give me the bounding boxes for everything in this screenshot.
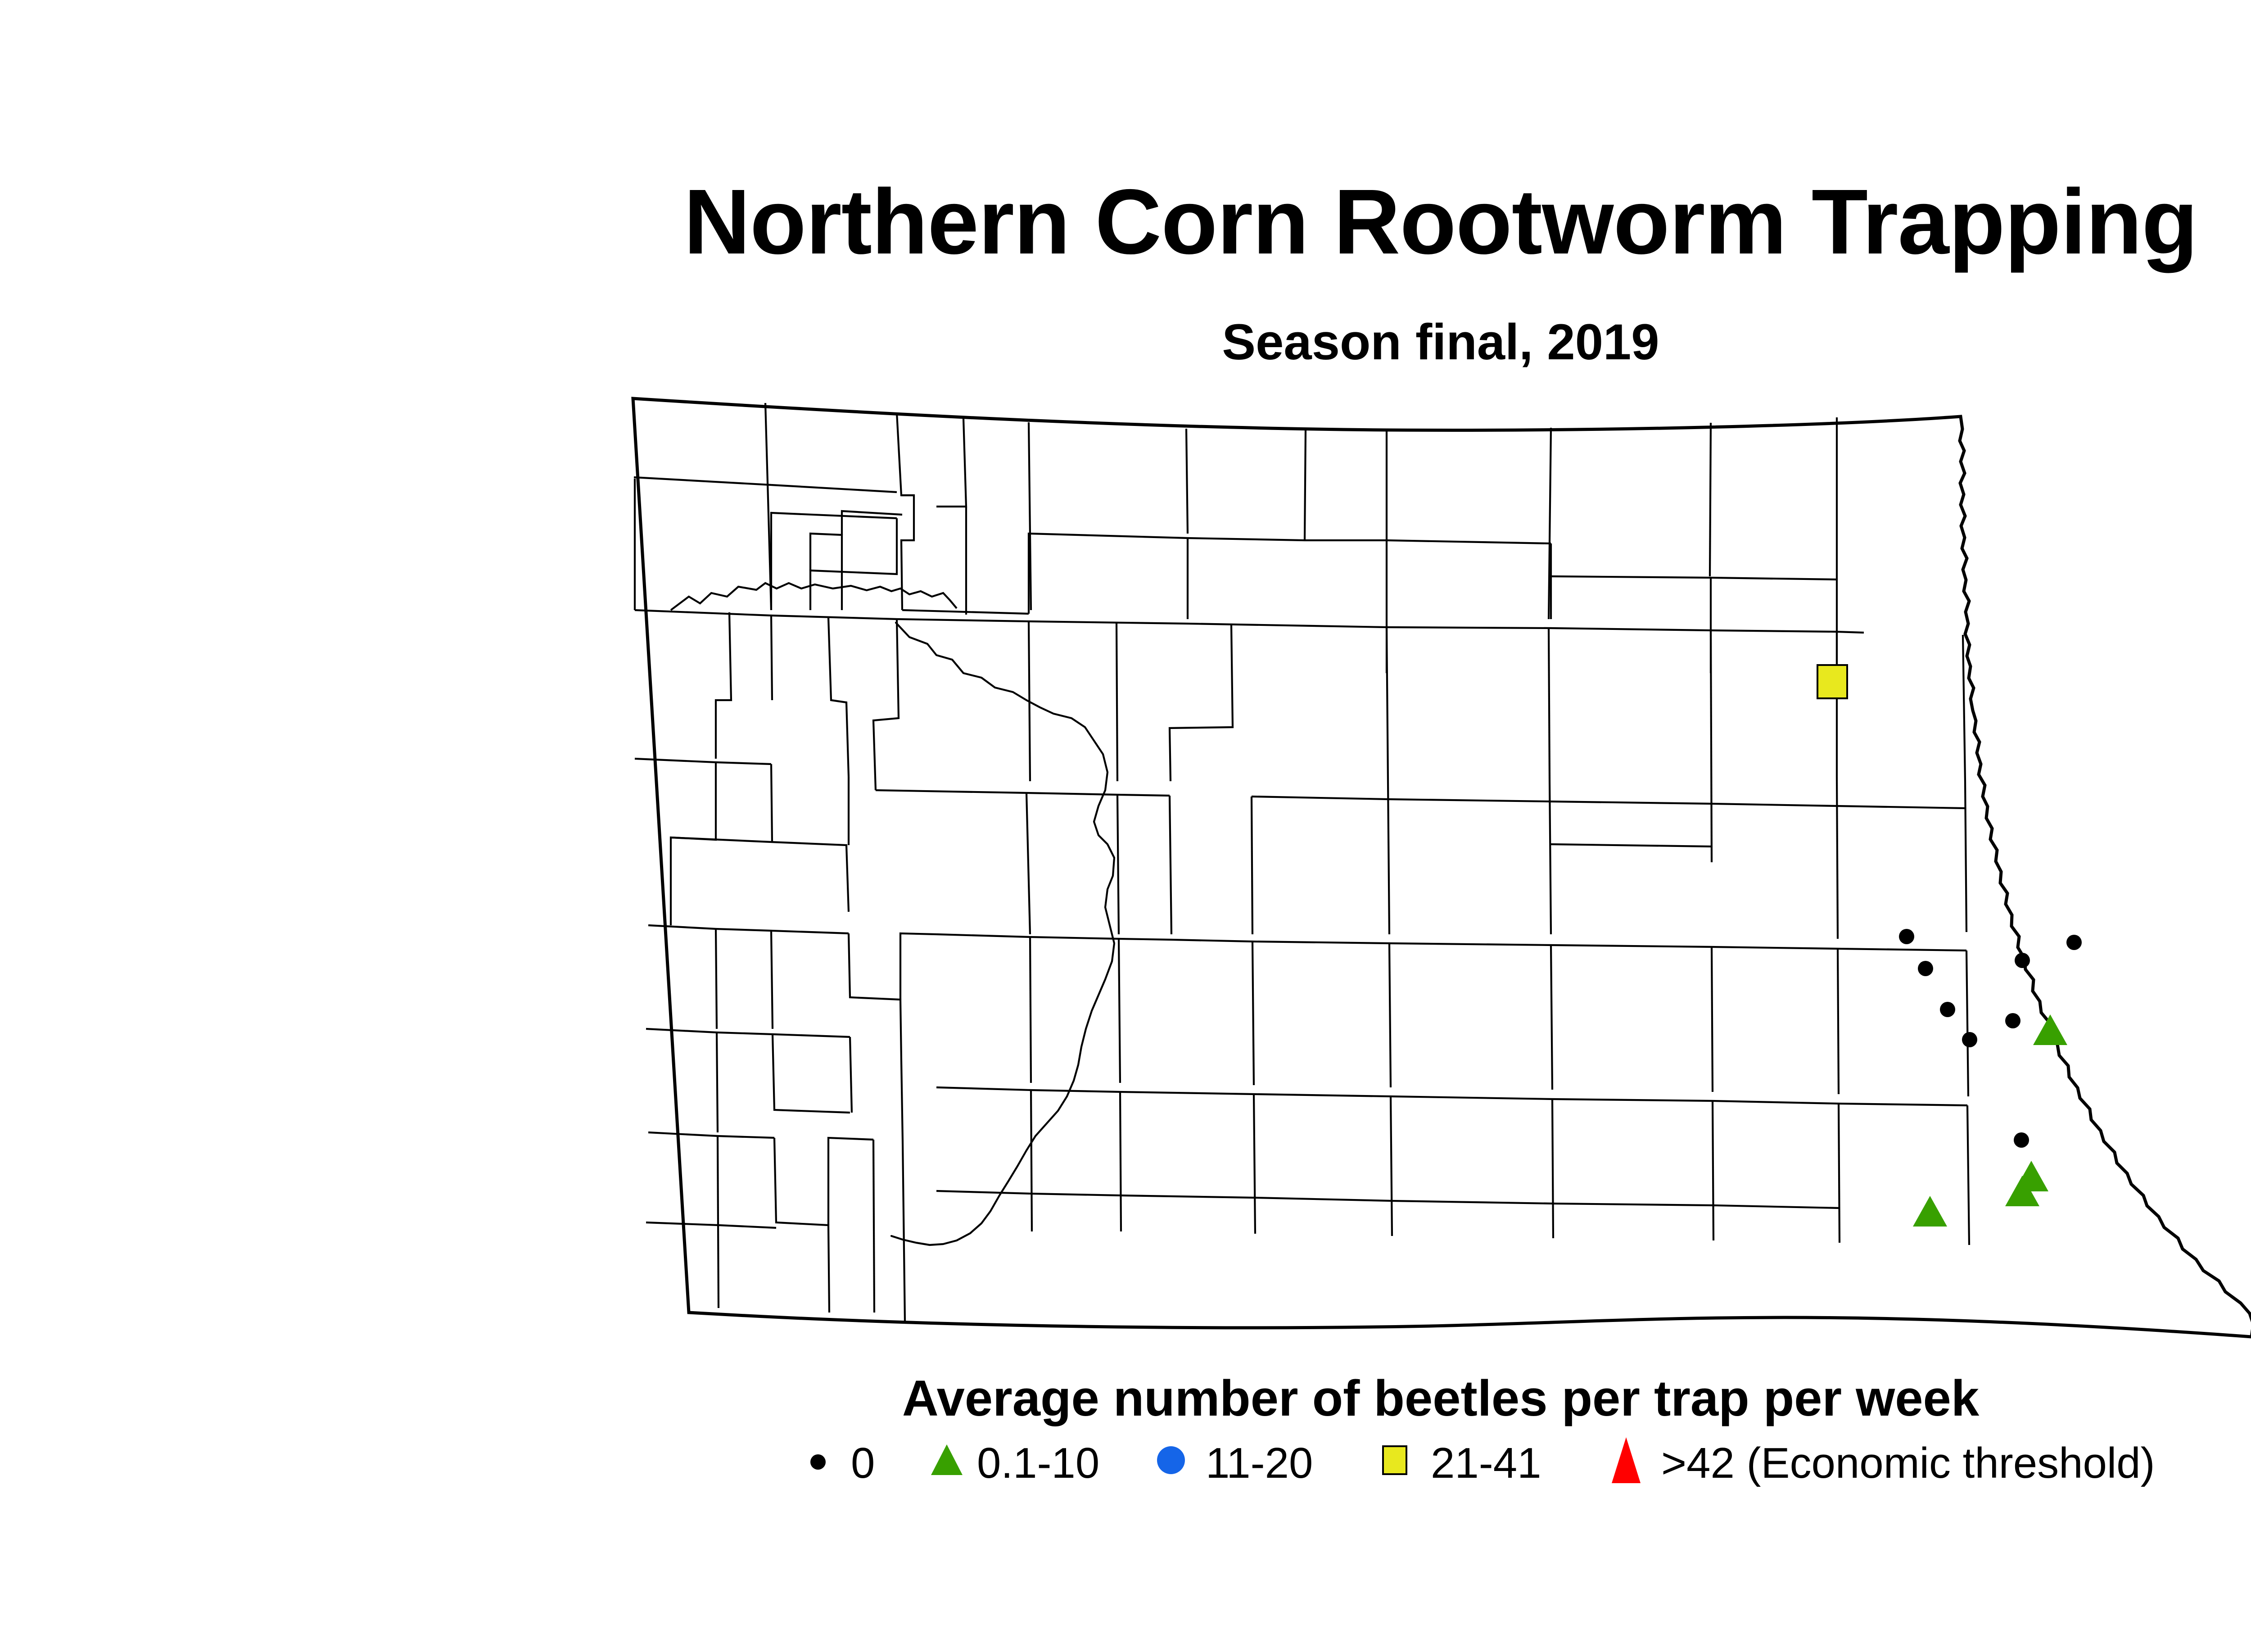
red-triangle-icon (1612, 1437, 1641, 1483)
map-marker-0 (2066, 935, 2082, 950)
legend-label-above-42: >42 (Economic threshold) (1661, 1441, 2155, 1486)
legend-label-21-41: 21-41 (1431, 1441, 1541, 1486)
map-marker-21-41 (1817, 664, 1848, 699)
green-triangle-icon (931, 1444, 963, 1475)
map-marker-0 (1940, 1002, 1955, 1017)
yellow-square-icon (1382, 1445, 1407, 1475)
legend-label-11-20: 11-20 (1206, 1441, 1313, 1486)
blue-circle-icon (1157, 1446, 1185, 1474)
map-marker-0 (1918, 961, 1933, 976)
legend-title: Average number of beetles per trap per w… (0, 1371, 2251, 1426)
map-marker-0 (1899, 929, 1914, 944)
page-title: Northern Corn Rootworm Trapping (0, 173, 2251, 270)
page-subtitle: Season final, 2019 (0, 315, 2251, 369)
map-marker-0 (2014, 1132, 2029, 1148)
chart-canvas: Northern Corn Rootworm Trapping Season f… (0, 0, 2251, 1652)
map-marker-0 (1962, 1032, 1977, 1047)
map-marker-0.1-10 (2033, 1014, 2067, 1045)
map-marker-0.1-10 (1913, 1196, 1947, 1227)
north-dakota-map (621, 385, 2251, 1349)
legend-label-0: 0 (851, 1441, 875, 1486)
legend-label-0.1-10: 0.1-10 (977, 1441, 1099, 1486)
map-marker-0 (2005, 1013, 2020, 1028)
map-marker-0.1-10 (2005, 1176, 2039, 1206)
map-marker-0 (2015, 953, 2030, 968)
black-dot-icon (810, 1454, 826, 1470)
